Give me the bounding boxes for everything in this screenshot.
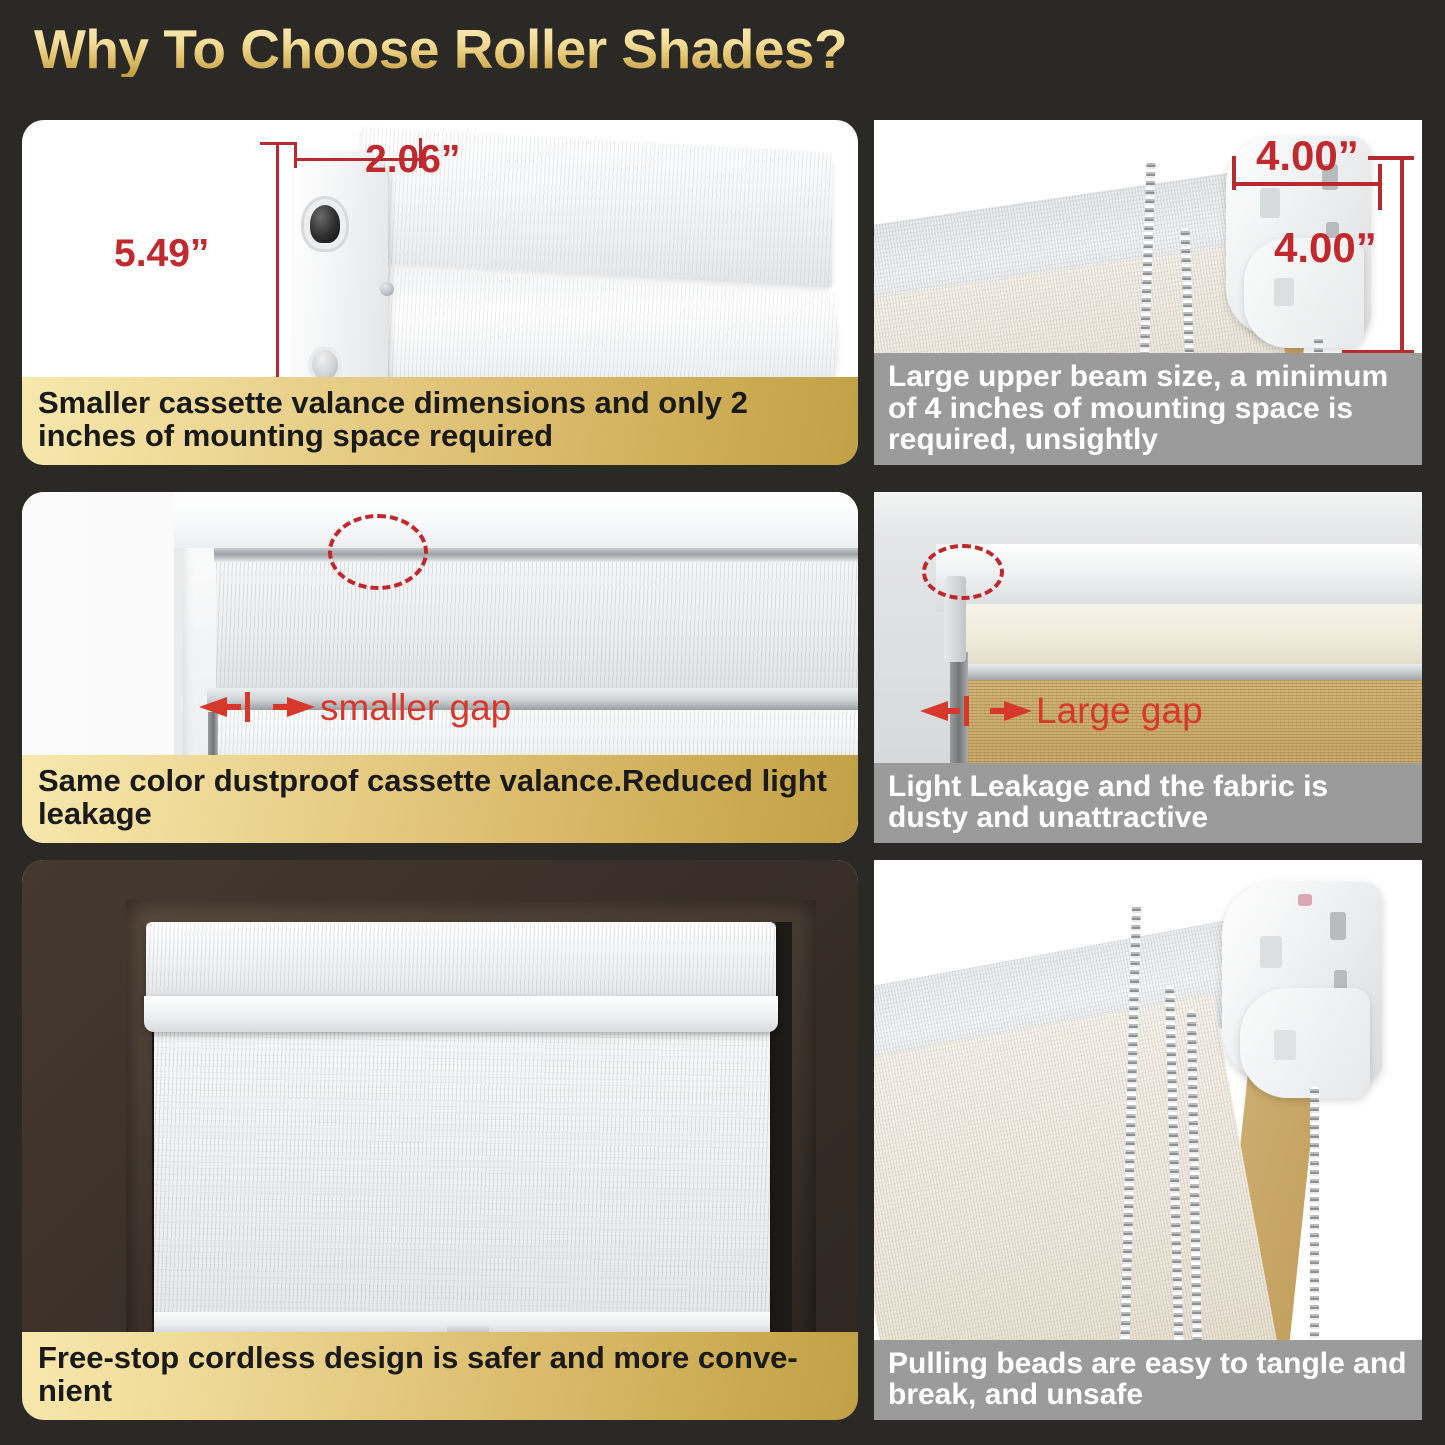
valance-strip (960, 604, 1422, 666)
smaller-gap-arrows-icon (197, 690, 317, 724)
page-title: Why To Choose Roller Shades? (34, 22, 847, 77)
width-dim-tick-right (1378, 164, 1382, 210)
panel-6-photo (874, 860, 1422, 1420)
bracket-logo-icon (1260, 188, 1280, 218)
panel-dustproof-cassette-valance: smaller gap Same color dustproof cassett… (22, 492, 858, 843)
cassette-valance (146, 922, 776, 1000)
large-gap-arrows-icon (918, 694, 1034, 728)
bracket-logo-icon (1260, 936, 1282, 968)
panel-smaller-cassette-valance: 2.06” 5.49” Smaller cassette valance dim… (22, 120, 858, 465)
panel-free-stop-cordless: Free-stop cordless design is safer and m… (22, 860, 858, 1420)
bracket-pink-marker-icon (1298, 894, 1312, 906)
bracket-lower-logo-icon (1274, 1030, 1296, 1060)
smaller-gap-label: smaller gap (320, 687, 511, 729)
roller-tube (936, 544, 1422, 612)
panel-6-caption: Pulling beads are easy to tangle and bre… (874, 1340, 1422, 1420)
window-frame-header (174, 492, 858, 548)
height-dim-line-right (1400, 156, 1404, 354)
panel-5-caption: Free-stop cordless design is safer and m… (22, 1332, 858, 1420)
height-dim-label: 4.00” (1274, 224, 1377, 272)
valance-clutch-knob-icon (310, 205, 340, 243)
valance-pin-knob-icon (312, 350, 338, 380)
width-dim-label: 2.06” (365, 138, 460, 182)
width-dim-line-top (1234, 182, 1382, 186)
valance-screw-icon (380, 282, 394, 296)
height-dim-tick-top (1368, 156, 1414, 160)
shade-panel-upper (216, 562, 858, 694)
bracket-slot-a (1330, 912, 1346, 940)
cassette-valance-lip (144, 996, 778, 1032)
panel-3-caption: Same color dustproof cassette valance.Re… (22, 755, 858, 843)
panel-2-caption: Large upper beam size, a minimum of 4 in… (874, 353, 1422, 465)
mounting-bracket-lower (1240, 988, 1370, 1098)
width-dim-tick-left (294, 142, 297, 168)
width-dim-tick-left (1232, 156, 1236, 190)
cassette-head-rail (214, 548, 858, 562)
roller-shade-fabric (154, 1030, 770, 1330)
ceiling-surface (874, 492, 1422, 536)
gap-highlight-circle-icon (922, 544, 1004, 600)
panel-1-caption: Smaller cassette valance dimensions and … (22, 377, 858, 465)
width-dim-label: 4.00” (1256, 132, 1359, 180)
panel-large-upper-beam: 4.00” 4.00” Large upper beam size, a min… (874, 120, 1422, 465)
large-gap-label: Large gap (1036, 690, 1203, 732)
bracket-lower-logo-icon (1274, 278, 1294, 306)
shade-rail (960, 664, 1422, 680)
gap-highlight-circle-icon (328, 514, 428, 590)
panel-light-leakage: Large gap Light Leakage and the fabric i… (874, 492, 1422, 843)
panel-4-caption: Light Leakage and the fabric is dusty an… (874, 763, 1422, 843)
bead-chain-right (1310, 1086, 1319, 1366)
height-dim-label: 5.49” (114, 232, 209, 276)
panel-pulling-beads: Pulling beads are easy to tangle and bre… (874, 860, 1422, 1420)
height-dim-tick-top (260, 142, 294, 145)
